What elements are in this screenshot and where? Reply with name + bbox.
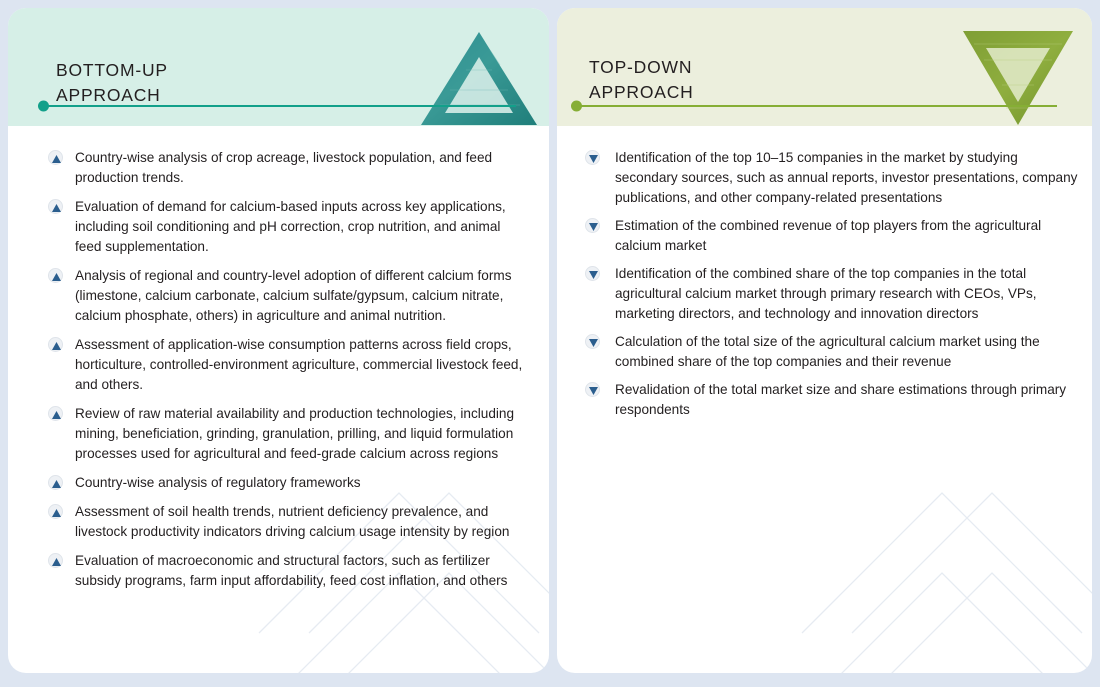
list-item: Revalidation of the total market size an…	[585, 380, 1078, 420]
circle-triangle-up-icon	[48, 406, 63, 421]
list-item: Assessment of soil health trends, nutrie…	[48, 502, 523, 542]
top-down-body: Identification of the top 10–15 companie…	[557, 126, 1092, 673]
circle-triangle-down-icon	[585, 334, 600, 349]
list-item: Calculation of the total size of the agr…	[585, 332, 1078, 372]
circle-triangle-up-icon	[48, 150, 63, 165]
circle-triangle-up-icon	[48, 199, 63, 214]
circle-triangle-up-icon	[48, 553, 63, 568]
list-item-text: Identification of the combined share of …	[615, 266, 1037, 321]
list-item-text: Assessment of application-wise consumpti…	[75, 337, 522, 392]
page-title: TOP-DOWN APPROACH	[589, 55, 694, 105]
circle-triangle-up-icon	[48, 504, 63, 519]
circle-triangle-up-icon	[48, 268, 63, 283]
list-item: Estimation of the combined revenue of to…	[585, 216, 1078, 256]
list-item: Country-wise analysis of crop acreage, l…	[48, 148, 523, 188]
bottom-up-header: BOTTOM-UP APPROACH	[8, 8, 549, 126]
list-item: Country-wise analysis of regulatory fram…	[48, 473, 523, 493]
list-item: Identification of the combined share of …	[585, 264, 1078, 324]
list-item: Analysis of regional and country-level a…	[48, 266, 523, 326]
list-item: Identification of the top 10–15 companie…	[585, 148, 1078, 208]
list-item: Review of raw material availability and …	[48, 404, 523, 464]
circle-triangle-down-icon	[585, 382, 600, 397]
list-item: Evaluation of demand for calcium-based i…	[48, 197, 523, 257]
accent-dot	[571, 101, 582, 112]
list-item-text: Identification of the top 10–15 companie…	[615, 150, 1077, 205]
bottom-up-bullet-list: Country-wise analysis of crop acreage, l…	[48, 148, 523, 591]
list-item-text: Evaluation of demand for calcium-based i…	[75, 199, 506, 254]
list-item-text: Assessment of soil health trends, nutrie…	[75, 504, 509, 539]
left-accent-rule	[44, 105, 516, 107]
list-item-text: Review of raw material availability and …	[75, 406, 514, 461]
circle-triangle-down-icon	[585, 150, 600, 165]
list-item: Assessment of application-wise consumpti…	[48, 335, 523, 395]
circle-triangle-down-icon	[585, 218, 600, 233]
right-accent-rule	[577, 105, 1057, 107]
top-down-approach-panel: TOP-DOWN APPROACH Identification of the …	[557, 8, 1092, 673]
circle-triangle-up-icon	[48, 337, 63, 352]
list-item-text: Country-wise analysis of regulatory fram…	[75, 475, 361, 490]
triangle-down-icon	[962, 30, 1074, 126]
list-item-text: Country-wise analysis of crop acreage, l…	[75, 150, 492, 185]
top-down-header: TOP-DOWN APPROACH	[557, 8, 1092, 126]
top-down-bullet-list: Identification of the top 10–15 companie…	[585, 148, 1078, 420]
triangle-up-icon	[420, 30, 538, 126]
page-frame: BOTTOM-UP APPROACH Country-wise analysis…	[0, 0, 1100, 687]
list-item: Evaluation of macroeconomic and structur…	[48, 551, 523, 591]
circle-triangle-up-icon	[48, 475, 63, 490]
accent-dot	[38, 101, 49, 112]
list-item-text: Analysis of regional and country-level a…	[75, 268, 512, 323]
bottom-up-body: Country-wise analysis of crop acreage, l…	[8, 126, 549, 673]
list-item-text: Evaluation of macroeconomic and structur…	[75, 553, 507, 588]
bottom-up-approach-panel: BOTTOM-UP APPROACH Country-wise analysis…	[8, 8, 549, 673]
page-title: BOTTOM-UP APPROACH	[56, 58, 168, 108]
list-item-text: Estimation of the combined revenue of to…	[615, 218, 1041, 253]
list-item-text: Revalidation of the total market size an…	[615, 382, 1066, 417]
list-item-text: Calculation of the total size of the agr…	[615, 334, 1040, 369]
circle-triangle-down-icon	[585, 266, 600, 281]
